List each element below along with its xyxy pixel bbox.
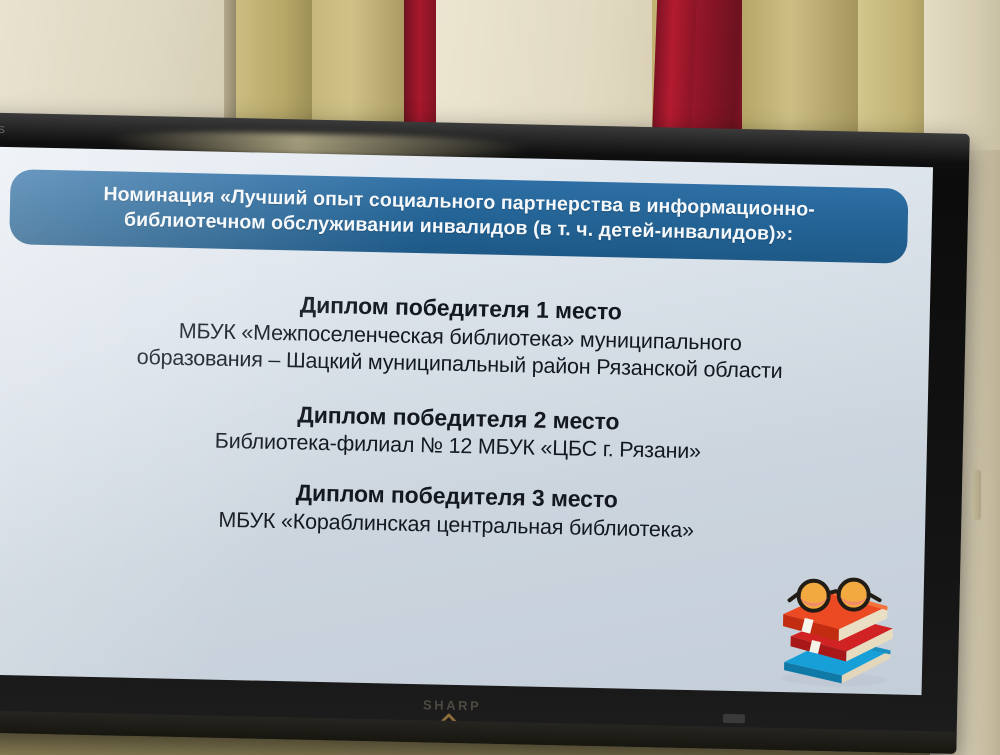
- presentation-slide: Номинация «Лучший опыт социального партн…: [0, 147, 933, 695]
- awards-list: Диплом победителя 1 место МБУК «Межпосел…: [0, 285, 930, 571]
- award-entry-first-place: Диплом победителя 1 место МБУК «Межпосел…: [0, 285, 930, 389]
- door-handle: [972, 470, 981, 520]
- slide-banner-nomination: Номинация «Лучший опыт социального партн…: [9, 169, 908, 263]
- books-with-glasses-icon: [768, 570, 899, 689]
- award-entry-second-place: Диплом победителя 2 место Библиотека-фил…: [0, 394, 928, 471]
- television: QUOS Номинация «Лучший опыт социального …: [0, 112, 970, 754]
- award-entry-third-place: Диплом победителя 3 место МБУК «Кораблин…: [0, 473, 926, 550]
- tv-screen: Номинация «Лучший опыт социального партн…: [0, 147, 933, 695]
- aquos-brand-label: QUOS: [0, 124, 6, 136]
- photo-of-presentation-screen: QUOS Номинация «Лучший опыт социального …: [0, 0, 1000, 755]
